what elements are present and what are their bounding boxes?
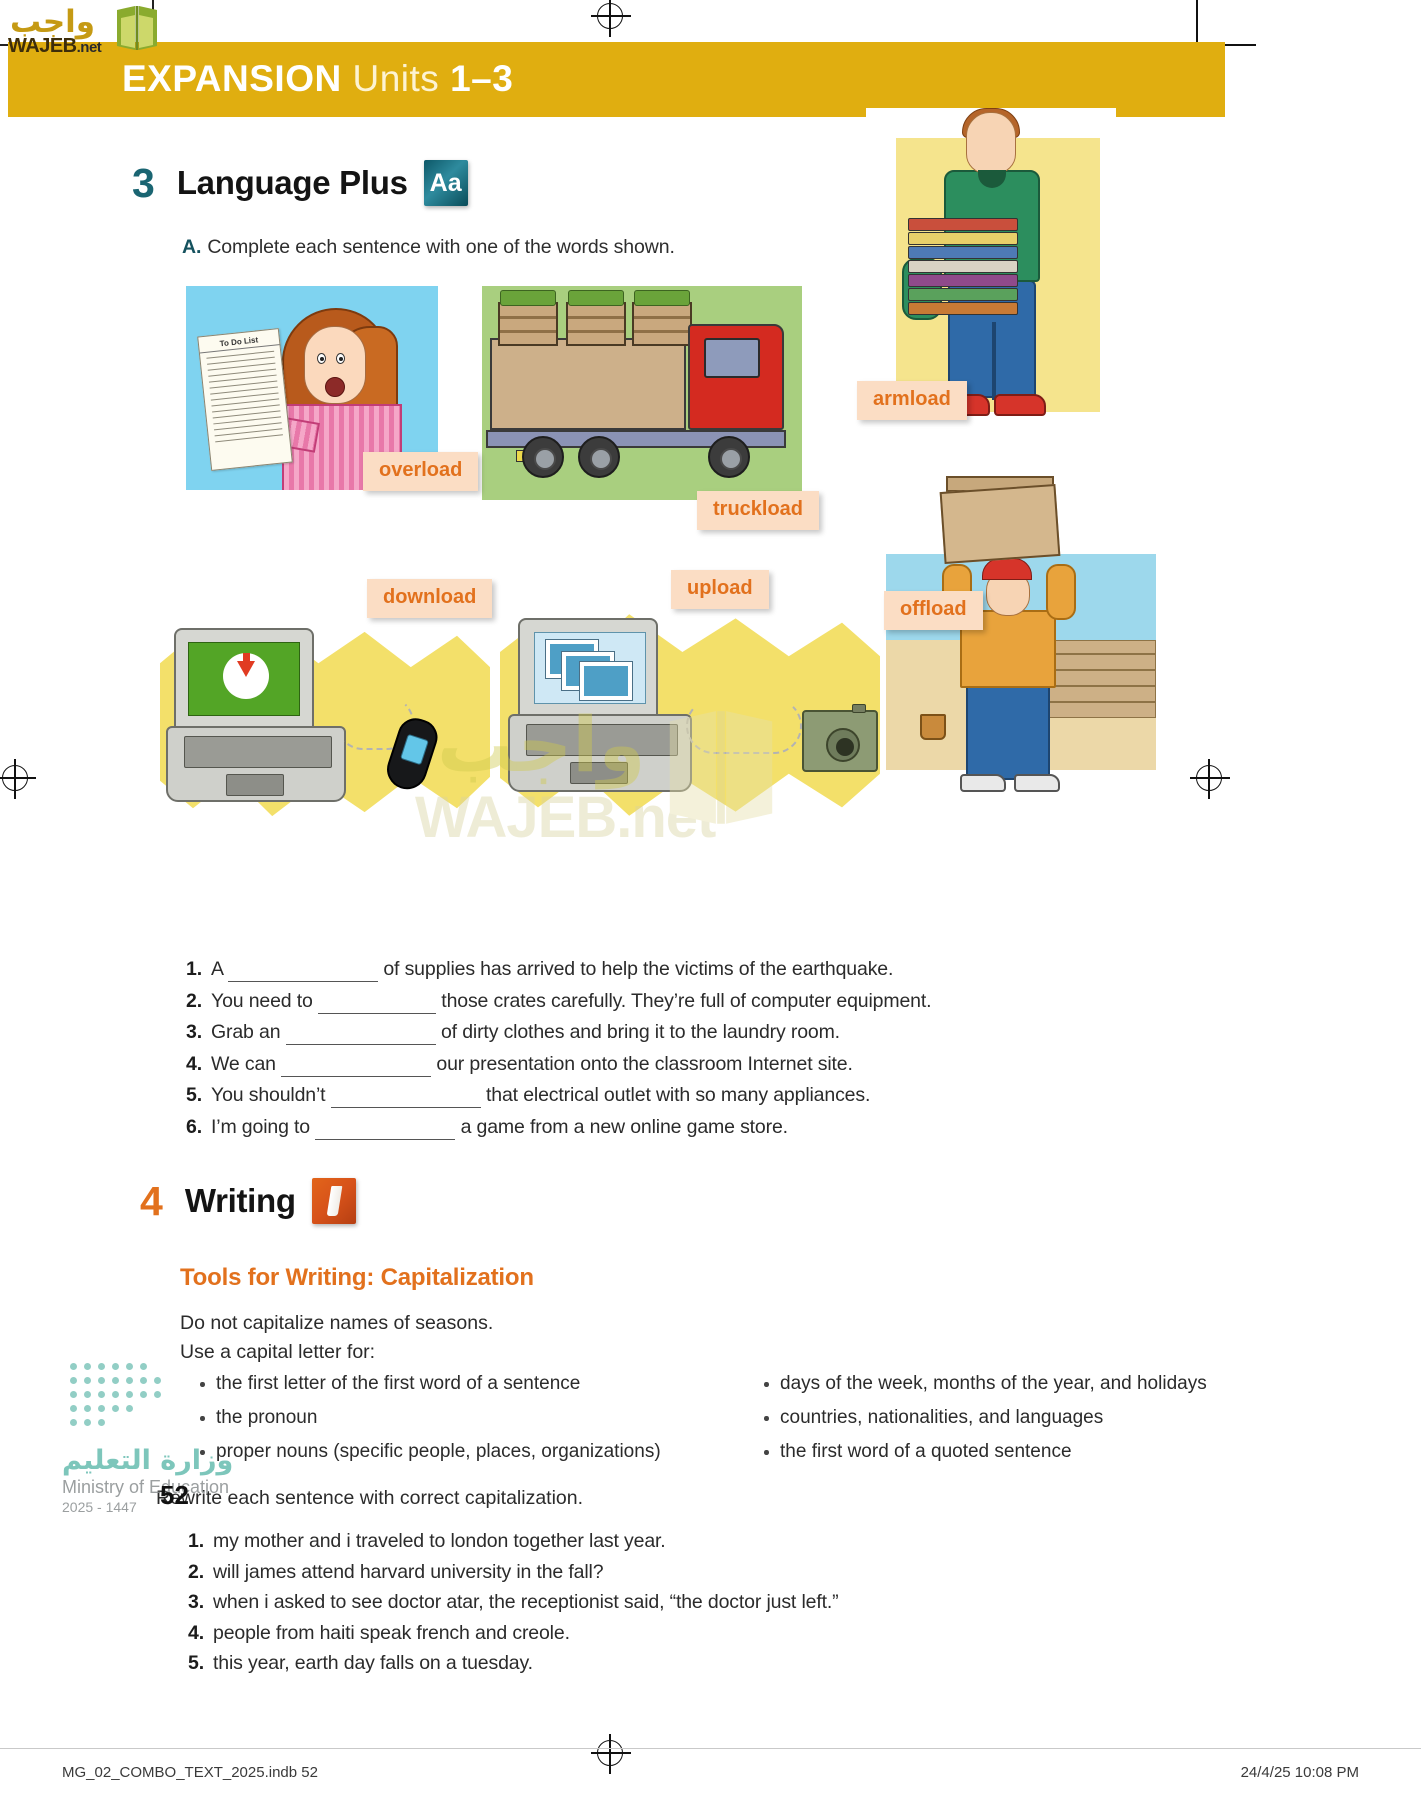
ministry-english: Ministry of Education (62, 1477, 229, 1498)
illustration-upload-laptop (500, 590, 880, 840)
item-number: 5. (178, 1084, 202, 1107)
section-title: Language Plus (177, 164, 408, 202)
list-item: days of the week, months of the year, an… (760, 1373, 1207, 1395)
digital-camera (802, 710, 878, 772)
list-item: 1. A of supplies has arrived to help the… (178, 958, 931, 982)
list-item: 3. Grab an of dirty clothes and bring it… (178, 1021, 931, 1045)
item-number: 4. (180, 1622, 204, 1645)
pencil-icon (312, 1178, 356, 1224)
item-number: 1. (178, 958, 202, 981)
registration-mark-bottom (597, 1740, 623, 1766)
list-item: 1. my mother and i traveled to london to… (180, 1530, 839, 1553)
item-text: Grab an of dirty clothes and bring it to… (211, 1021, 840, 1045)
list-item: 2. You need to those crates carefully. T… (178, 990, 931, 1014)
list-item: 5. this year, earth day falls on a tuesd… (180, 1652, 839, 1675)
answer-blank[interactable] (315, 1116, 455, 1140)
list-item: 3. when i asked to see doctor atar, the … (180, 1591, 839, 1614)
item-number: 1. (180, 1530, 204, 1553)
item-text: You shouldn’t that electrical outlet wit… (211, 1084, 870, 1108)
exercise-letter: A. (182, 236, 201, 258)
title-units-range: 1–3 (450, 58, 513, 99)
footer-divider (0, 1748, 1421, 1749)
exercise-a-list: 1. A of supplies has arrived to help the… (178, 958, 931, 1147)
illustration-truckload (482, 286, 802, 500)
section-number: 3 (132, 163, 155, 204)
title-units-word: Units (352, 58, 439, 99)
answer-blank[interactable] (318, 990, 436, 1014)
word-label-overload[interactable]: overload (363, 452, 478, 491)
page-title: EXPANSION Units 1–3 (122, 58, 513, 100)
word-label-download[interactable]: download (367, 579, 492, 618)
item-number: 3. (178, 1021, 202, 1044)
answer-blank[interactable] (228, 958, 378, 982)
item-number: 6. (178, 1116, 202, 1139)
ministry-years: 2025 - 1447 (62, 1499, 137, 1515)
list-item: countries, nationalities, and languages (760, 1407, 1207, 1429)
footer-file-info: MG_02_COMBO_TEXT_2025.indb 52 (62, 1764, 318, 1781)
section-title: Writing (185, 1182, 296, 1220)
section-heading-writing: 4 Writing (140, 1178, 356, 1224)
word-label-truckload[interactable]: truckload (697, 491, 819, 530)
illustration-offload-man (886, 470, 1156, 810)
word-label-armload[interactable]: armload (857, 381, 967, 420)
footer-timestamp: 24/4/25 10:08 PM (1241, 1764, 1359, 1781)
open-book-icon (114, 4, 160, 54)
answer-blank[interactable] (331, 1084, 481, 1108)
item-text: my mother and i traveled to london toget… (213, 1530, 666, 1553)
capitalization-rule-line-2: Use a capital letter for: (180, 1341, 375, 1364)
item-text: people from haiti speak french and creol… (213, 1622, 570, 1645)
word-label-offload[interactable]: offload (884, 591, 983, 630)
list-item: 2. will james attend harvard university … (180, 1561, 839, 1584)
tools-for-writing-title: Tools for Writing: Capitalization (180, 1264, 534, 1292)
item-number: 3. (180, 1591, 204, 1614)
registration-mark-left (2, 765, 28, 791)
item-text: A of supplies has arrived to help the vi… (211, 958, 893, 982)
registration-mark-right (1196, 765, 1222, 791)
section-heading-language-plus: 3 Language Plus Aa (132, 160, 468, 206)
logo-latin-text: WAJEB.net (8, 35, 101, 58)
section-number: 4 (140, 1181, 163, 1222)
registration-mark-top (597, 3, 623, 29)
item-text: You need to those crates carefully. They… (211, 990, 931, 1014)
list-item: 5. You shouldn’t that electrical outlet … (178, 1084, 931, 1108)
item-text: this year, earth day falls on a tuesday. (213, 1652, 533, 1675)
title-expansion: EXPANSION (122, 58, 342, 99)
item-text: I’m going to a game from a new online ga… (211, 1116, 788, 1140)
exercise-instruction-text: Complete each sentence with one of the w… (207, 236, 675, 258)
book-stack (908, 218, 1018, 314)
word-label-upload[interactable]: upload (671, 570, 769, 609)
item-number: 2. (178, 990, 202, 1013)
language-aa-icon: Aa (424, 160, 468, 206)
answer-blank[interactable] (286, 1021, 436, 1045)
item-text: will james attend harvard university in … (213, 1561, 603, 1584)
to-do-list-paper: To Do List (197, 328, 293, 471)
list-item: 4. We can our presentation onto the clas… (178, 1053, 931, 1077)
list-item: the first word of a quoted sentence (760, 1441, 1207, 1463)
item-text: We can our presentation onto the classro… (211, 1053, 853, 1077)
list-item: 6. I’m going to a game from a new online… (178, 1116, 931, 1140)
page-number: 52 (160, 1480, 189, 1511)
dot-pattern (70, 1363, 190, 1429)
capitalization-bullets-right: days of the week, months of the year, an… (760, 1373, 1207, 1475)
item-number: 5. (180, 1652, 204, 1675)
list-item: 4. people from haiti speak french and cr… (180, 1622, 839, 1645)
exercise-a-instruction: A.Complete each sentence with one of the… (182, 236, 675, 259)
answer-blank[interactable] (281, 1053, 431, 1077)
textbook-page: واجب WAJEB.net EXPANSION Units 1–3 3 Lan… (0, 0, 1421, 1800)
item-text: when i asked to see doctor atar, the rec… (213, 1591, 839, 1614)
item-number: 2. (180, 1561, 204, 1584)
illustration-download-laptop (160, 600, 490, 830)
wajeb-logo[interactable]: واجب WAJEB.net (8, 4, 158, 60)
capitalization-rule-line-1: Do not capitalize names of seasons. (180, 1312, 493, 1335)
item-number: 4. (178, 1053, 202, 1076)
rewrite-list: 1. my mother and i traveled to london to… (180, 1530, 839, 1683)
ministry-arabic: وزارة التعليم (62, 1445, 233, 1476)
crop-mark-right-vertical (1196, 0, 1198, 46)
